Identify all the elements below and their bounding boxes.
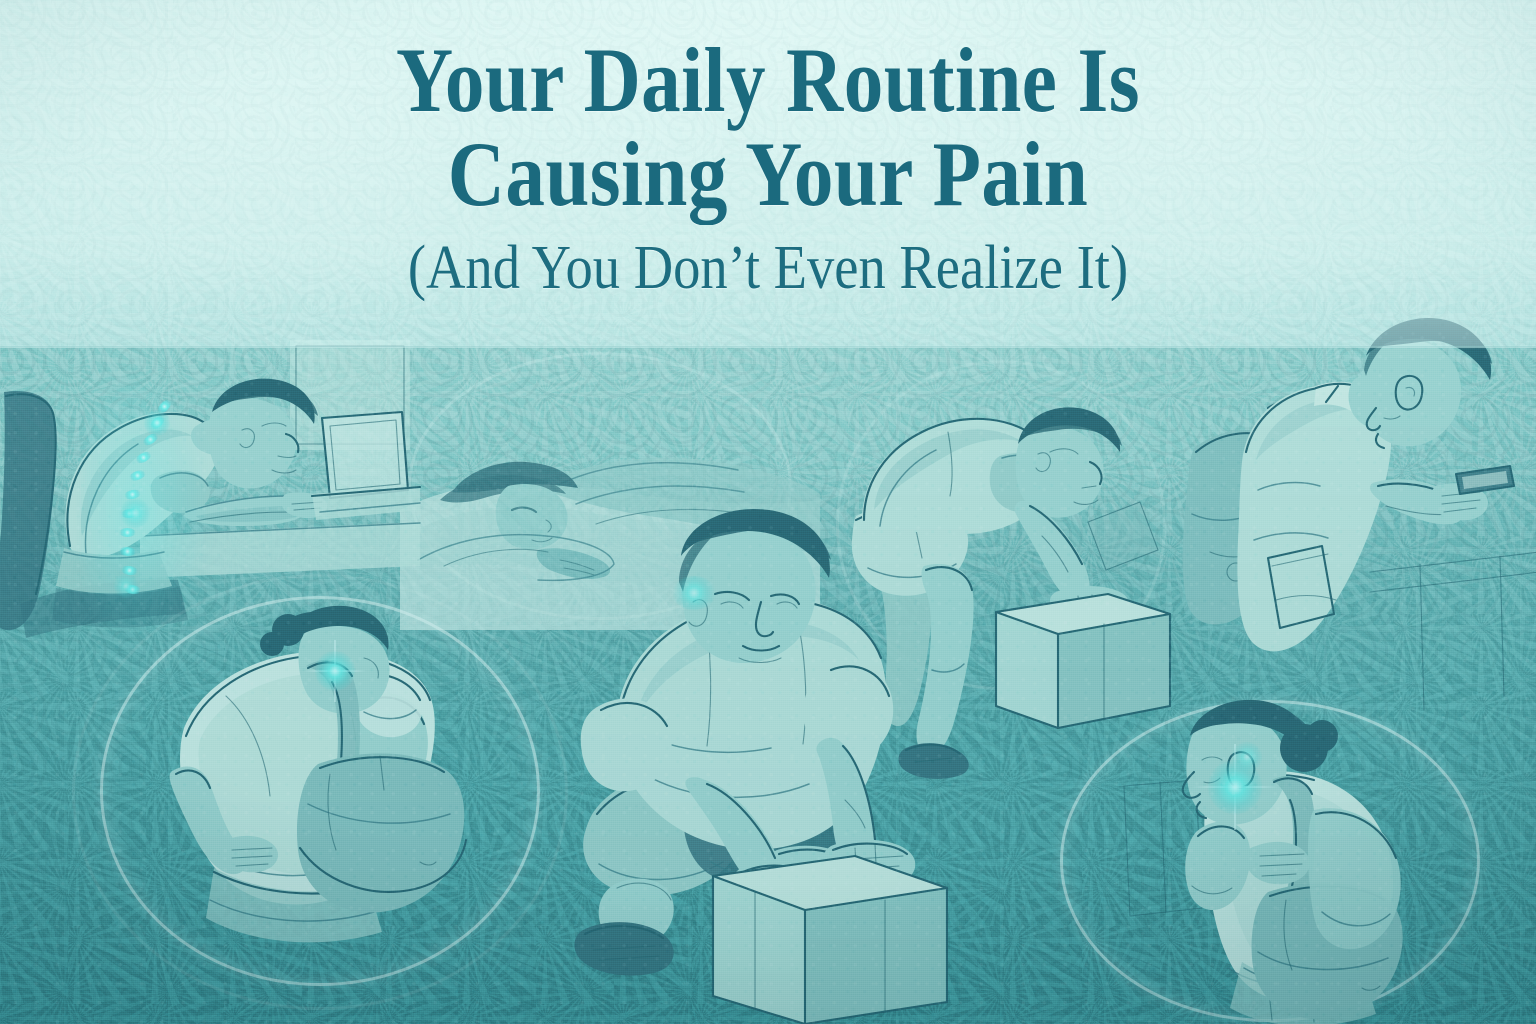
- headline-line-2: Causing Your Pain: [108, 130, 1429, 218]
- headline-line-1: Your Daily Routine Is: [108, 36, 1429, 124]
- title-band-edge: [0, 346, 1536, 349]
- poster-canvas: Your Daily Routine Is Causing Your Pain …: [0, 0, 1536, 1024]
- headline-block: Your Daily Routine Is Causing Your Pain …: [0, 36, 1536, 304]
- headline-subtitle: (And You Don’t Even Realize It): [92, 233, 1444, 304]
